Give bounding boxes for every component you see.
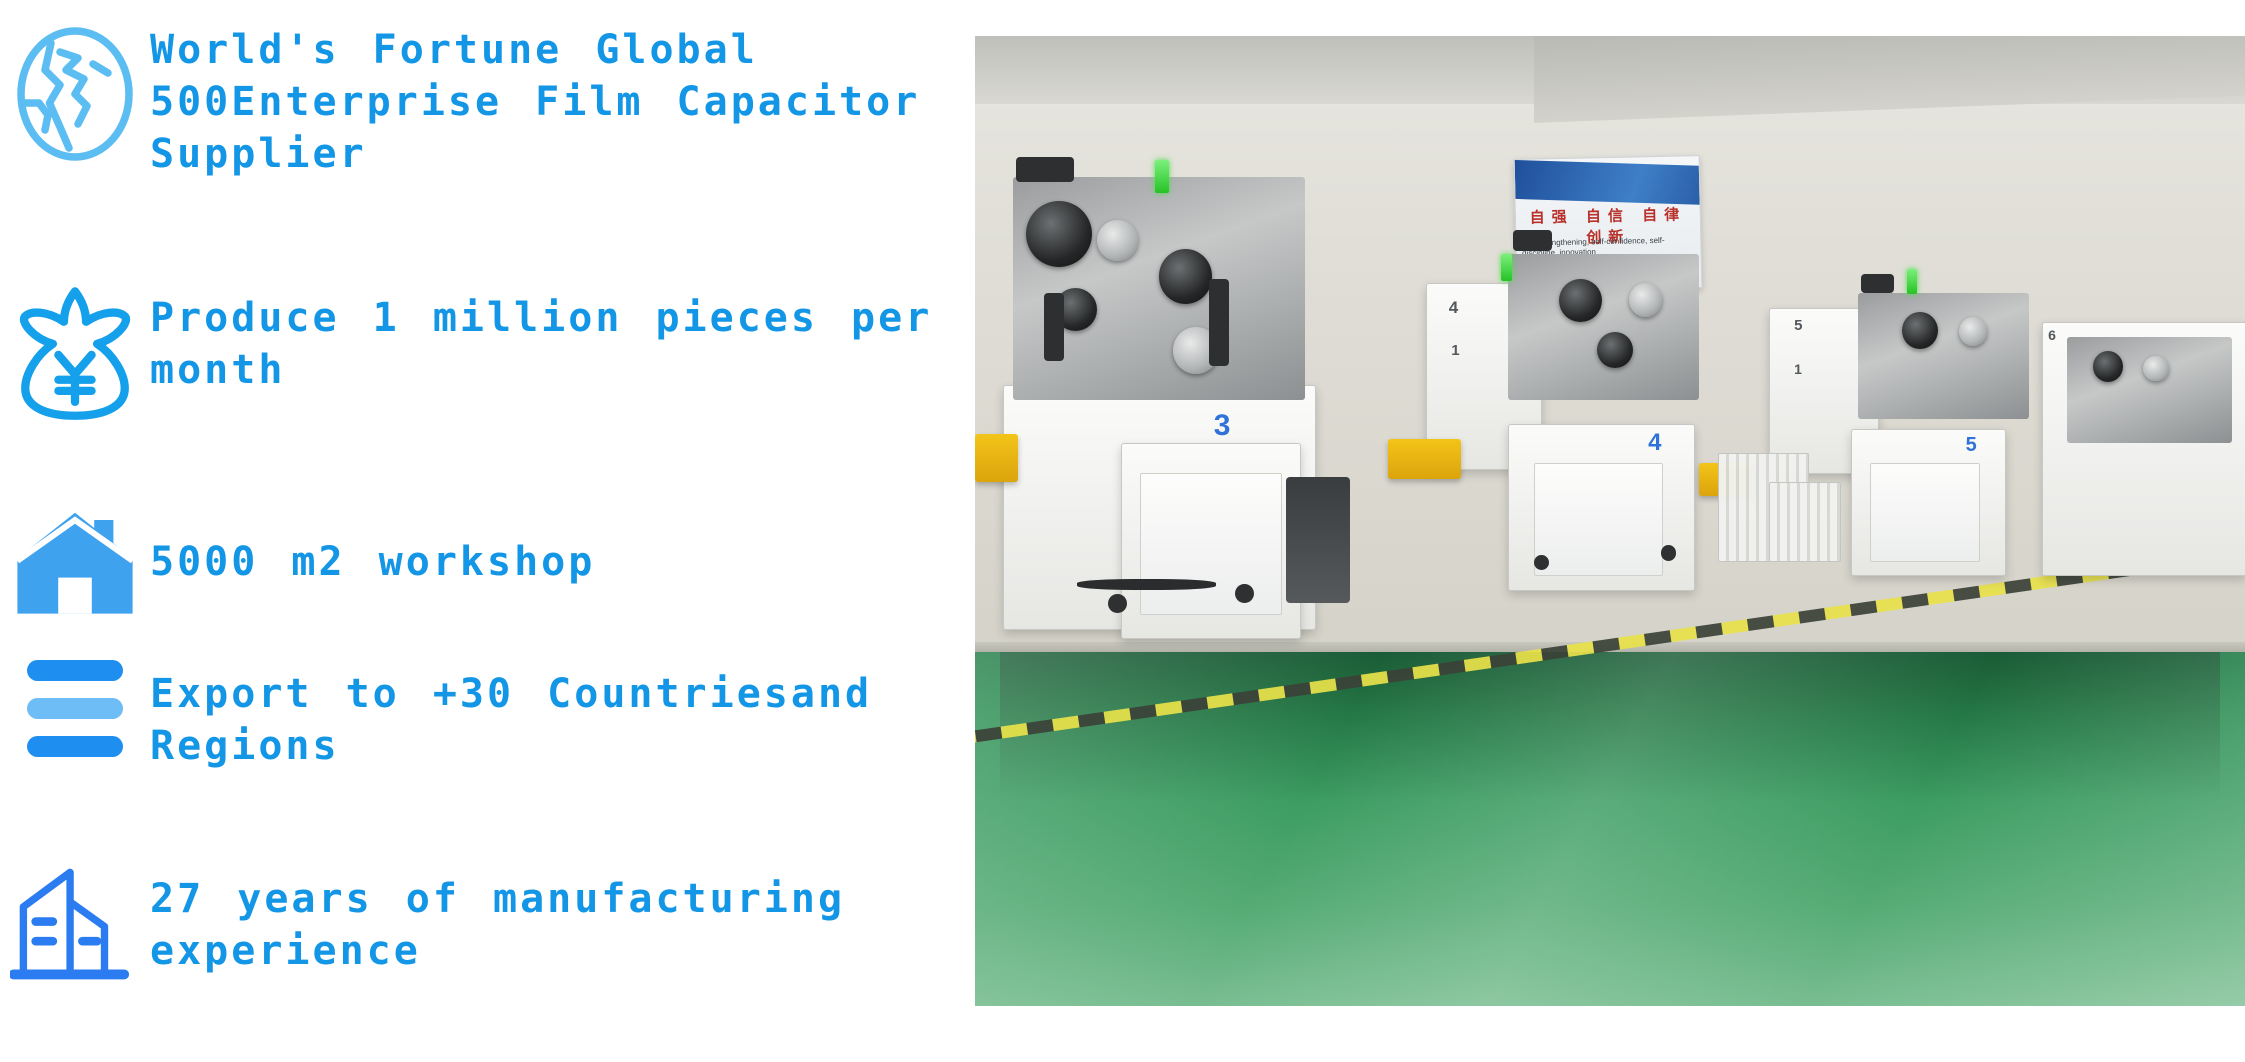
bar-bottom	[27, 736, 123, 757]
storage-crate	[1769, 482, 1841, 562]
house-icon	[0, 508, 150, 616]
machine-4-mechanism	[1508, 254, 1699, 400]
caster-wheel	[1661, 545, 1676, 561]
parts-bin	[975, 434, 1018, 483]
status-led	[1155, 160, 1169, 193]
reel	[1902, 312, 1938, 349]
feature-list: World's Fortune Global 500Enterprise Fil…	[0, 0, 975, 1062]
machine-panel-number-1-b: 1	[1794, 361, 1802, 377]
banner-blue-bar	[1514, 160, 1699, 205]
robot-arm	[1016, 157, 1074, 182]
reel	[1026, 201, 1092, 267]
reel	[1559, 279, 1602, 323]
machine-5-mechanism	[1858, 293, 2029, 419]
feature-item-export-markets: Export to +30 Countriesand Regions	[0, 660, 960, 772]
feature-item-experience-years: 27 years of manufacturing experience	[0, 865, 960, 983]
status-led	[1501, 254, 1512, 281]
globe-icon	[0, 18, 150, 170]
machine-5-door-panel	[1870, 463, 1980, 562]
feature-label: Export to +30 Countriesand Regions	[150, 660, 960, 772]
bar-top	[27, 660, 123, 681]
machine-number-5: 5	[1966, 434, 1977, 457]
feature-item-global-supplier: World's Fortune Global 500Enterprise Fil…	[0, 18, 960, 180]
bars-icon	[0, 660, 150, 757]
machine-number-4: 4	[1648, 429, 1661, 457]
robot-arm	[1209, 279, 1229, 366]
waste-bin	[1286, 477, 1350, 603]
promo-banner: World's Fortune Global 500Enterprise Fil…	[0, 0, 2245, 1062]
bar-middle	[27, 698, 123, 719]
machine-number-3: 3	[1214, 409, 1231, 443]
robot-arm	[1513, 230, 1551, 251]
feature-item-workshop-area: 5000 m2 workshop	[0, 508, 960, 616]
machine-4-door-panel	[1534, 463, 1663, 577]
floor-cable	[1077, 579, 1217, 590]
machine-panel-number-5: 5	[1794, 317, 1802, 334]
reel	[1159, 249, 1212, 303]
machine-6-mechanism	[2067, 337, 2232, 444]
machine-panel-number-6: 6	[2048, 327, 2056, 343]
robot-arm	[1044, 293, 1064, 361]
machine-3-door-panel	[1140, 473, 1282, 616]
feature-label: 27 years of manufacturing experience	[150, 865, 960, 977]
money-bag-icon	[0, 272, 150, 424]
status-led	[1907, 269, 1917, 294]
feature-label: Produce 1 million pieces per month	[150, 272, 960, 396]
factory-workshop-photo: 自强 自信 自律 创新 Self-strengthening, self-con…	[975, 36, 2245, 1006]
robot-arm	[1861, 274, 1894, 293]
feature-label: World's Fortune Global 500Enterprise Fil…	[150, 18, 960, 180]
parts-bin	[1388, 439, 1462, 480]
feature-item-monthly-output: Produce 1 million pieces per month	[0, 272, 960, 424]
reel	[1597, 332, 1633, 368]
reel	[2093, 351, 2123, 382]
reel	[2143, 356, 2168, 381]
machine-panel-number-4: 4	[1449, 298, 1458, 318]
reel	[1097, 220, 1138, 261]
machine-panel-number-1: 1	[1451, 342, 1459, 359]
feature-label: 5000 m2 workshop	[150, 508, 960, 588]
building-icon	[0, 865, 150, 983]
